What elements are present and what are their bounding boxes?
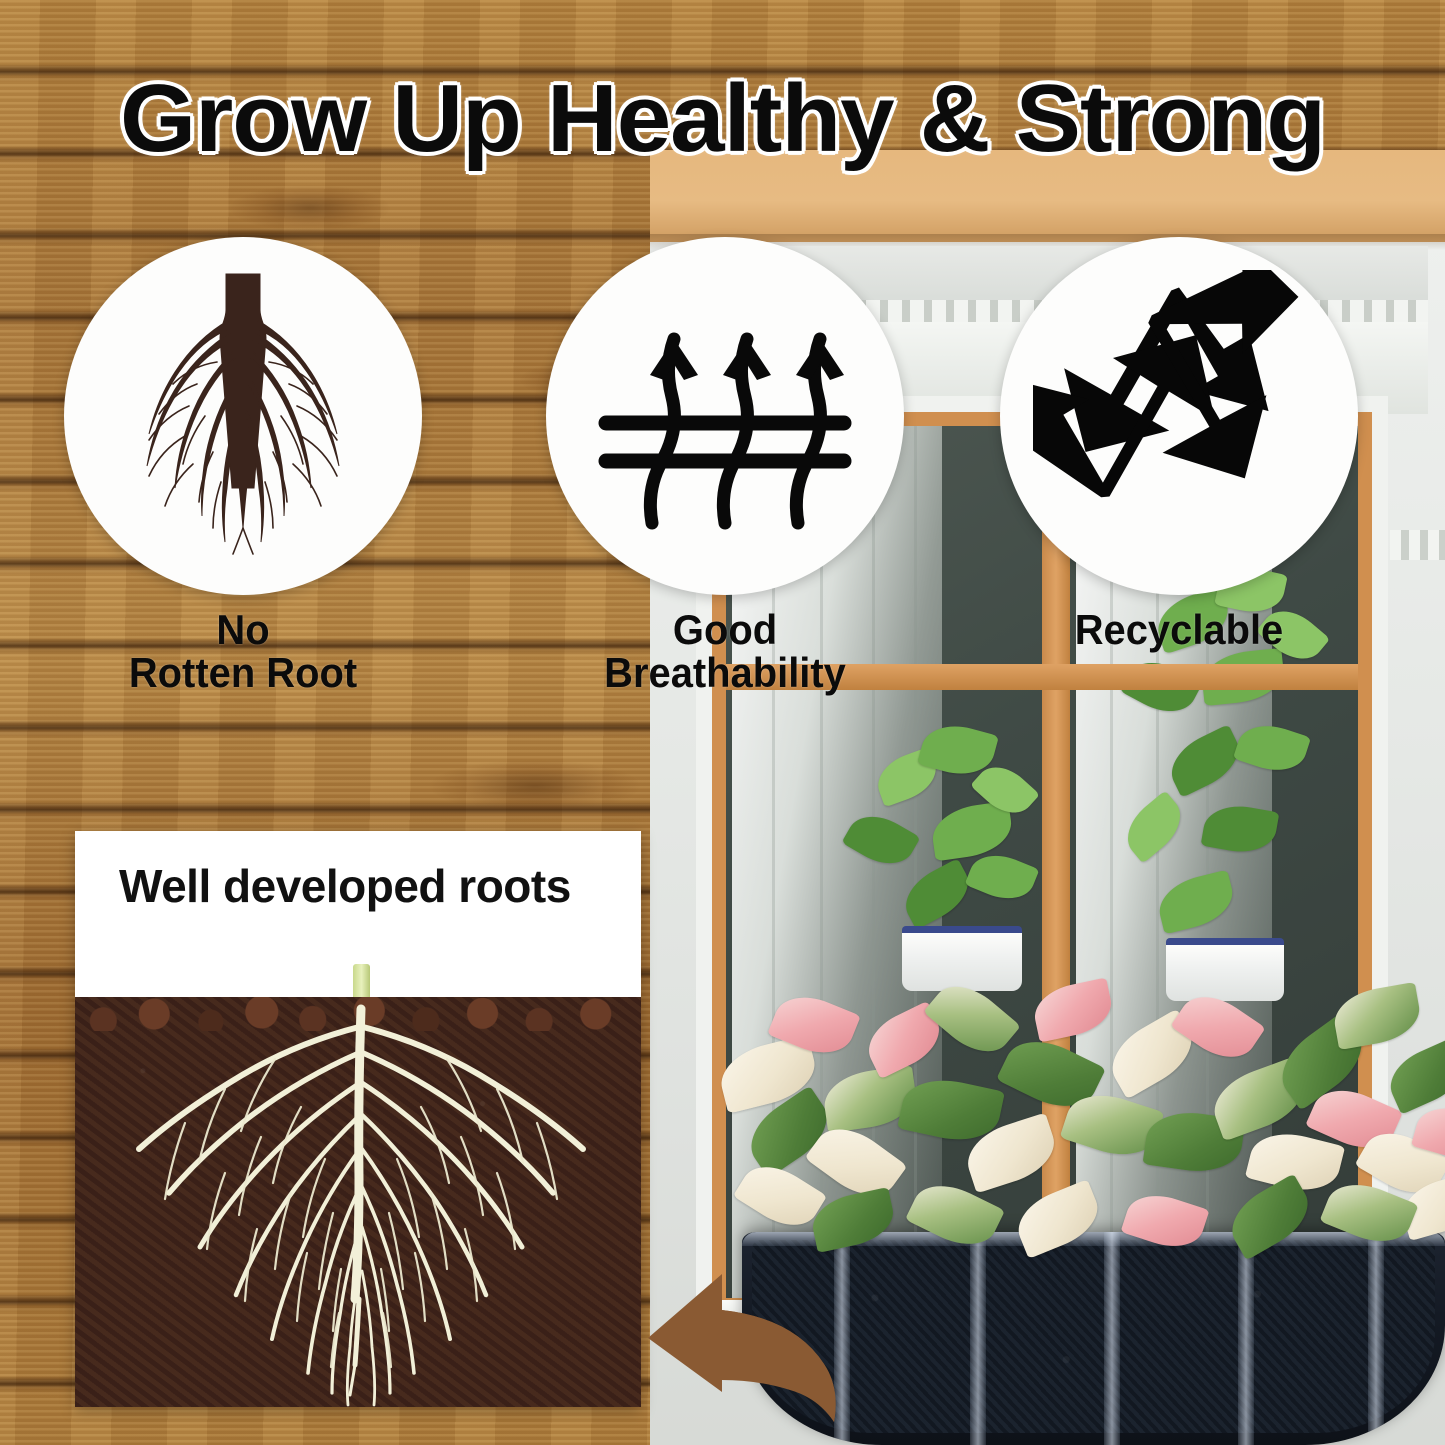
feature-badge-good-breathability[interactable]: Good Breathability (546, 237, 904, 695)
badge-circle (546, 237, 904, 595)
well-developed-roots-inset: Well developed roots (75, 831, 641, 1407)
badge-circle (1000, 237, 1358, 595)
callout-arrow (612, 1252, 862, 1442)
badge-label: No Rotten Root (73, 609, 413, 695)
recycle-icon (1033, 270, 1325, 562)
curved-arrow-left-icon (612, 1252, 862, 1442)
indoor-flower-pot (902, 926, 1022, 991)
side-dentil-trim (1390, 530, 1445, 560)
badge-label: Good Breathability (555, 609, 895, 695)
root-system-icon (93, 266, 393, 566)
feature-badge-no-rotten-root[interactable]: No Rotten Root (64, 237, 422, 695)
planter-foliage (716, 985, 1445, 1285)
badge-label: Recyclable (1009, 609, 1349, 652)
page-title: Grow Up Healthy & Strong (0, 64, 1445, 174)
breathability-arrows-icon (580, 271, 870, 561)
feature-badge-recyclable[interactable]: Recyclable (1000, 237, 1358, 652)
badge-circle (64, 237, 422, 595)
inset-title: Well developed roots (119, 859, 571, 913)
soil-cross-section (75, 997, 641, 1407)
fibrous-root-illustration (75, 997, 641, 1407)
marketing-image-canvas: Grow Up Healthy & Strong (0, 0, 1445, 1445)
